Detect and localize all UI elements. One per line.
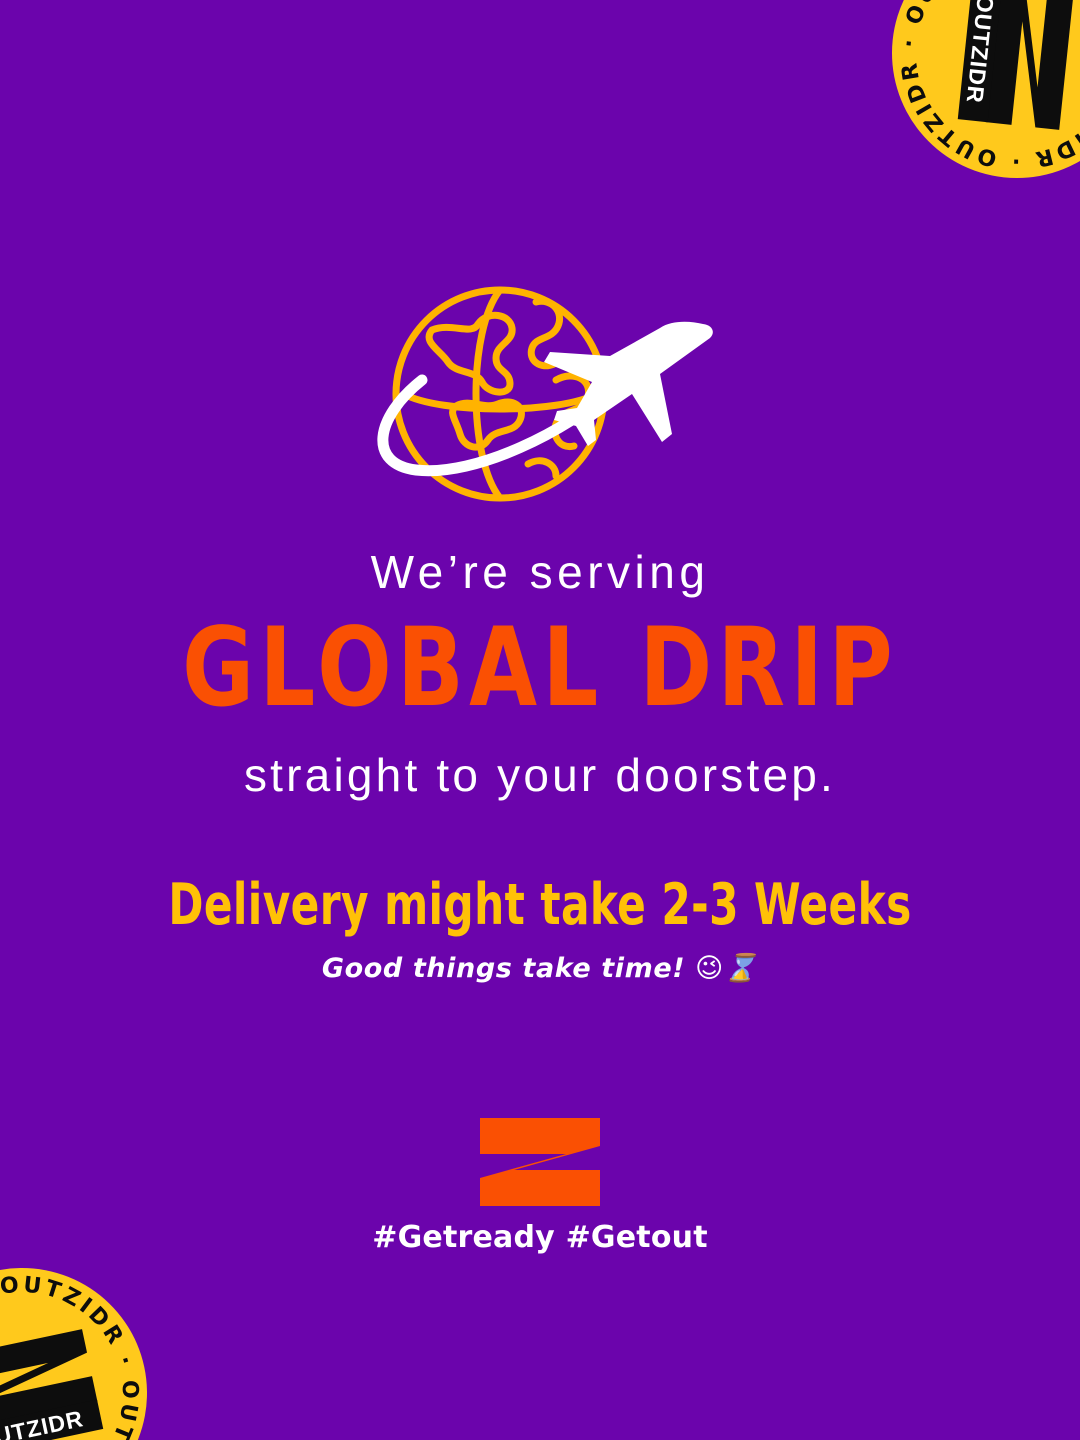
- promo-poster: OUTZIDR · OUTZIDR · OUTZIDR · OUTZIDR · …: [0, 0, 1080, 1440]
- eyebrow-text: We’re serving: [0, 548, 1080, 596]
- hashtags-text: #Getready #Getout: [0, 1220, 1080, 1255]
- delivery-note-text: Good things take time! 😉⌛: [0, 955, 1080, 983]
- outzidr-badge-bottom-left: OUTZIDR · OUTZIDR · OUTZIDR · OUTZIDR · …: [0, 1245, 170, 1440]
- badge-core-top-right: OUTZIDR: [957, 0, 1076, 134]
- copy-block: We’re serving GLOBAL DRIP straight to yo…: [0, 548, 1080, 983]
- outzidr-z-logo-icon: [478, 1116, 602, 1208]
- globe-with-airplane-icon: [360, 278, 720, 510]
- footer-lockup: #Getready #Getout: [0, 1116, 1080, 1255]
- continent-north: [429, 315, 512, 392]
- subhead-text: straight to your doorstep.: [0, 751, 1080, 799]
- delivery-estimate-text: Delivery might take 2-3 Weeks: [0, 875, 1080, 935]
- continent-south-east: [528, 461, 556, 476]
- outzidr-badge-top-right: OUTZIDR · OUTZIDR · OUTZIDR · OUTZIDR · …: [880, 0, 1080, 190]
- headline-text: GLOBAL DRIP: [0, 612, 1080, 726]
